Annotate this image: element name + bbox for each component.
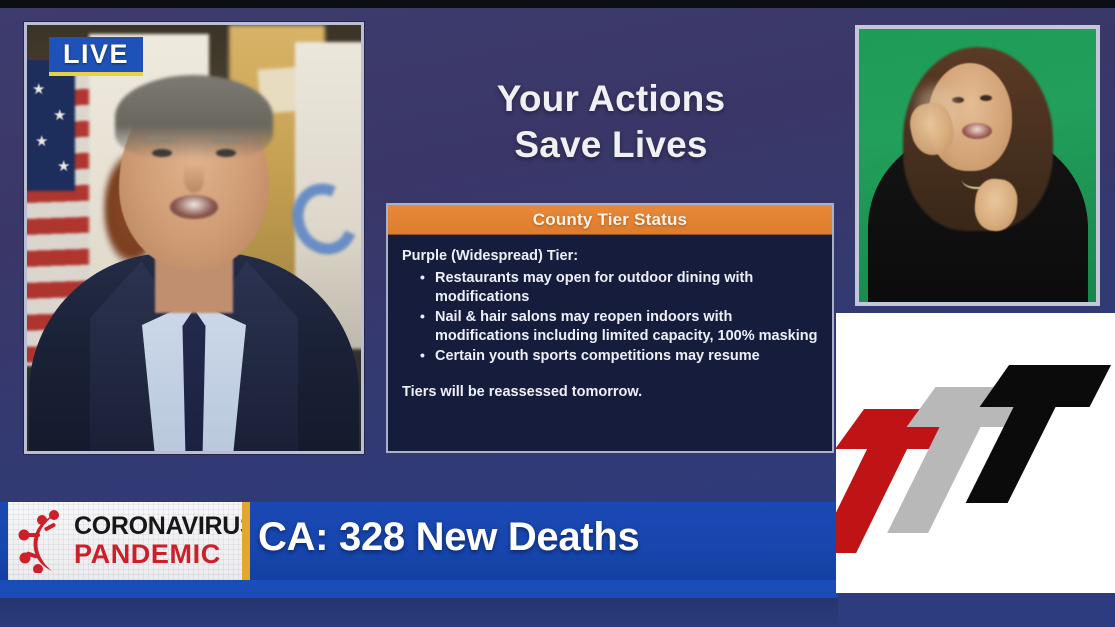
speaker-mouth xyxy=(170,195,218,219)
logo-line-coronavirus: CORONAVIRUS xyxy=(74,514,250,539)
tier-footnote: Tiers will be reassessed tomorrow. xyxy=(402,383,818,402)
flag-star-icon: ★ xyxy=(53,106,66,124)
coronavirus-pandemic-logo: CORONAVIRUS PANDEMIC xyxy=(8,502,250,580)
speaker-eyebrow-left xyxy=(146,137,176,142)
speaker-nose xyxy=(184,165,204,193)
slide-title: Your Actions Save Lives xyxy=(388,76,834,167)
live-badge: LIVE xyxy=(49,37,143,76)
speaker-video-panel[interactable]: ★ ★ ★ ★ LIVE xyxy=(24,22,364,454)
asl-interpreter-panel[interactable] xyxy=(855,25,1100,306)
tier-lead-label: Purple (Widespread) Tier: xyxy=(402,247,818,266)
county-tier-status-panel: County Tier Status Purple (Widespread) T… xyxy=(386,203,834,453)
ttt-logo-icon xyxy=(836,313,1115,593)
interpreter-eye-right xyxy=(980,95,992,101)
broadcast-screen: ★ ★ ★ ★ LIVE xyxy=(0,0,1115,627)
lower-third-base-strip xyxy=(0,580,838,598)
coronavirus-pandemic-wordmark: CORONAVIRUS PANDEMIC xyxy=(74,514,250,568)
flag-star-icon: ★ xyxy=(35,132,48,150)
flag-star-icon: ★ xyxy=(32,80,45,98)
county-tier-status-body: Purple (Widespread) Tier: Restaurants ma… xyxy=(388,235,832,402)
speaker-video-feed: ★ ★ ★ ★ xyxy=(27,25,361,451)
virus-particle-icon xyxy=(18,509,72,573)
county-tier-status-header: County Tier Status xyxy=(388,205,832,235)
speaker-eye-right xyxy=(216,149,236,157)
tier-bullet-list: Restaurants may open for outdoor dining … xyxy=(420,269,818,366)
list-item: Restaurants may open for outdoor dining … xyxy=(420,269,818,307)
news-headline: CA: 328 New Deaths xyxy=(258,515,639,560)
speaker-eyebrow-right xyxy=(212,137,242,142)
speaker-eye-left xyxy=(152,149,172,157)
list-item: Certain youth sports competitions may re… xyxy=(420,347,818,366)
interpreter-mouth xyxy=(962,123,992,139)
logo-line-pandemic: PANDEMIC xyxy=(74,541,250,568)
slide-title-line-2: Save Lives xyxy=(388,122,834,168)
lower-third-shadow xyxy=(0,598,838,627)
top-letterbox xyxy=(0,0,1115,8)
asl-interpreter-video-feed xyxy=(859,29,1096,302)
station-logo-panel xyxy=(836,313,1115,593)
flag-star-icon: ★ xyxy=(57,157,70,175)
list-item: Nail & hair salons may reopen indoors wi… xyxy=(420,308,818,346)
speaker-hair xyxy=(115,75,273,159)
slide-title-line-1: Your Actions xyxy=(388,76,834,122)
